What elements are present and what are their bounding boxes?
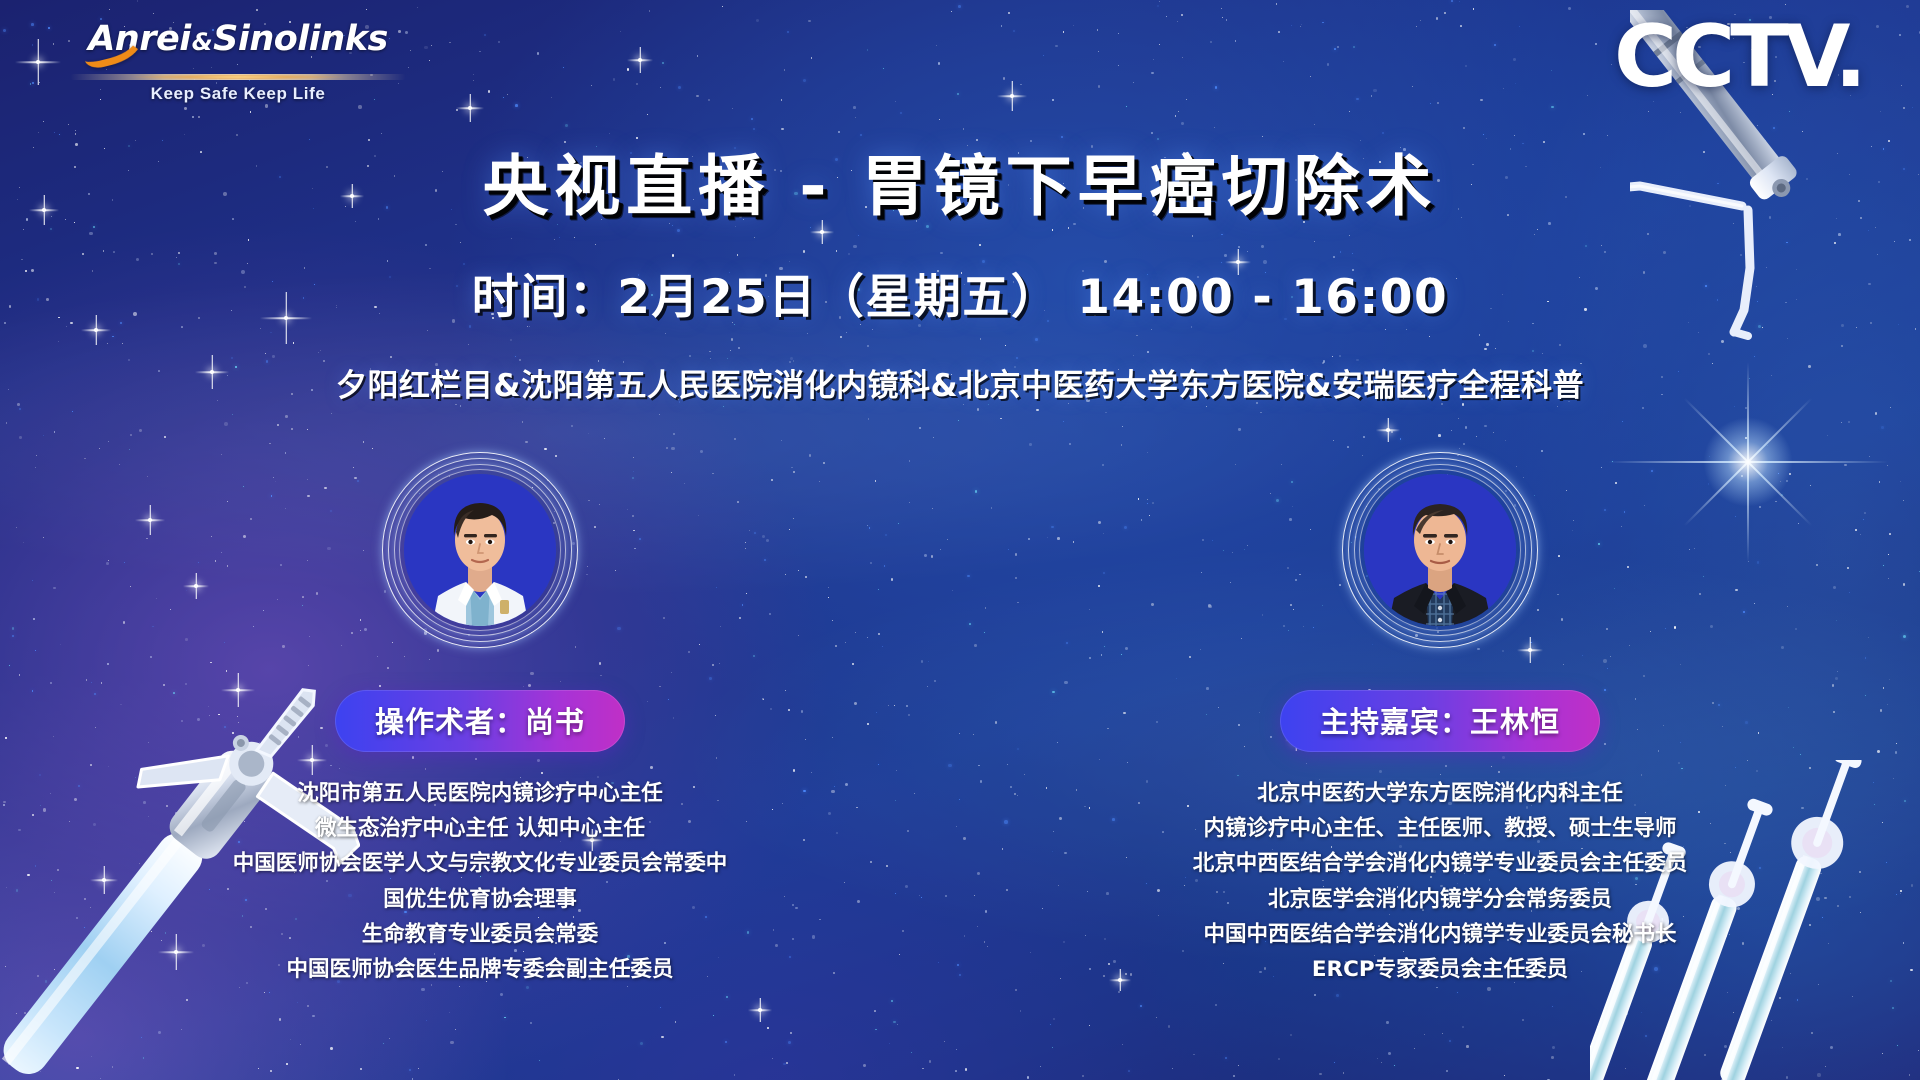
credential-line: 国优生优育协会理事 — [383, 884, 577, 915]
speaker-card: 主持嘉宾：王林恒 北京中医药大学东方医院消化内科主任 内镜诊疗中心主任、主任医师… — [1170, 452, 1710, 985]
credential-line: 中国中西医结合学会消化内镜学专业委员会秘书长 — [1203, 919, 1676, 950]
avatar — [382, 452, 578, 648]
brand-logo: Anrei&Sinolinks Keep Safe Keep Life — [78, 22, 398, 100]
brand-ampersand: & — [191, 30, 213, 54]
partners-subtitle: 夕阳红栏目&沈阳第五人民医院消化内镜科&北京中医药大学东方医院&安瑞医疗全程科普 — [0, 360, 1920, 405]
credential-line: 内镜诊疗中心主任、主任医师、教授、硕士生导师 — [1203, 813, 1676, 844]
credential-line: 中国医师协会医生品牌专委会副主任委员 — [286, 954, 673, 985]
speaker-card: 操作术者：尚书 沈阳市第五人民医院内镜诊疗中心主任 微生态治疗中心主任 认知中心… — [210, 452, 750, 985]
page-title: 央视直播 - 胃镜下早癌切除术 — [0, 133, 1920, 229]
brand-divider — [70, 74, 406, 80]
brand-tagline: Keep Safe Keep Life — [78, 84, 398, 104]
broadcast-time: 时间：2月25日（星期五） 14:00 - 16:00 — [0, 258, 1920, 327]
live-broadcast-poster: Anrei&Sinolinks Keep Safe Keep Life CCTV… — [0, 0, 1920, 1080]
brand-name-part2: Sinolinks — [213, 22, 388, 57]
avatar — [1342, 452, 1538, 648]
speaker-name-badge: 操作术者：尚书 — [335, 690, 625, 752]
credential-line: 北京医学会消化内镜学分会常务委员 — [1268, 884, 1612, 915]
speaker-photo — [1364, 474, 1516, 626]
credential-line: 微生态治疗中心主任 认知中心主任 — [315, 813, 645, 844]
speaker-credentials: 沈阳市第五人民医院内镜诊疗中心主任 微生态治疗中心主任 认知中心主任 中国医师协… — [130, 778, 830, 985]
speaker-photo — [404, 474, 556, 626]
speaker-name-badge: 主持嘉宾：王林恒 — [1280, 690, 1600, 752]
speaker-credentials: 北京中医药大学东方医院消化内科主任 内镜诊疗中心主任、主任医师、教授、硕士生导师… — [1090, 778, 1790, 985]
cctv-logo: CCTV. — [1614, 14, 1862, 100]
speakers-section: 操作术者：尚书 沈阳市第五人民医院内镜诊疗中心主任 微生态治疗中心主任 认知中心… — [0, 452, 1920, 985]
credential-line: 生命教育专业委员会常委 — [362, 919, 599, 950]
credential-line: 沈阳市第五人民医院内镜诊疗中心主任 — [297, 778, 663, 809]
credential-line: 中国医师协会医学人文与宗教文化专业委员会常委中 — [233, 848, 728, 879]
credential-line: 北京中医药大学东方医院消化内科主任 — [1257, 778, 1623, 809]
credential-line: 北京中西医结合学会消化内镜学专业委员会主任委员 — [1193, 848, 1688, 879]
credential-line: ERCP专家委员会主任委员 — [1312, 954, 1568, 985]
